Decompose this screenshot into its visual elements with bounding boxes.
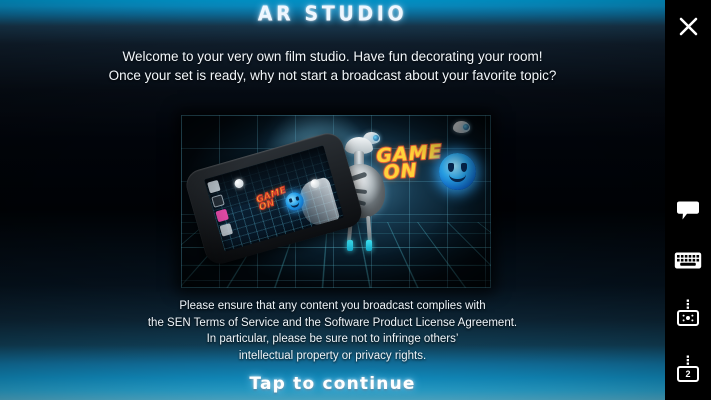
legal-line-1: Please ensure that any content you broad… [0,298,665,315]
page-title: AR STUDIO [258,2,407,25]
device-icon [674,299,702,329]
welcome-line-2: Once your set is ready, why not start a … [0,66,665,85]
artwork-border [181,115,491,288]
speech-bubble-icon [676,200,700,221]
device-player-indicator[interactable]: 2 [665,350,711,390]
legal-line-4: intellectual property or privacy rights. [0,348,665,365]
legal-line-3: In particular, please be sure not to inf… [0,331,665,348]
main-content-panel[interactable]: AR STUDIO Welcome to your very own film … [0,0,665,400]
device-status-indicator[interactable] [665,294,711,334]
tap-to-continue-button[interactable]: Tap to continue [0,374,665,394]
right-sidebar: 2 [665,0,711,400]
keyboard-button[interactable] [665,240,711,280]
chat-button[interactable] [665,190,711,230]
welcome-line-1: Welcome to your very own film studio. Ha… [0,47,665,66]
legal-line-2: the SEN Terms of Service and the Softwar… [0,315,665,332]
close-icon [678,16,699,37]
legal-notice: Please ensure that any content you broad… [0,298,665,364]
promo-artwork: GAME ON [181,115,491,288]
player-number-label: 2 [685,369,690,379]
keyboard-icon [674,251,702,270]
title-bar: AR STUDIO [0,0,665,28]
ar-studio-screen: AR STUDIO Welcome to your very own film … [0,0,711,400]
close-button[interactable] [665,6,711,46]
welcome-message: Welcome to your very own film studio. Ha… [0,47,665,85]
device-player-icon: 2 [674,355,702,385]
